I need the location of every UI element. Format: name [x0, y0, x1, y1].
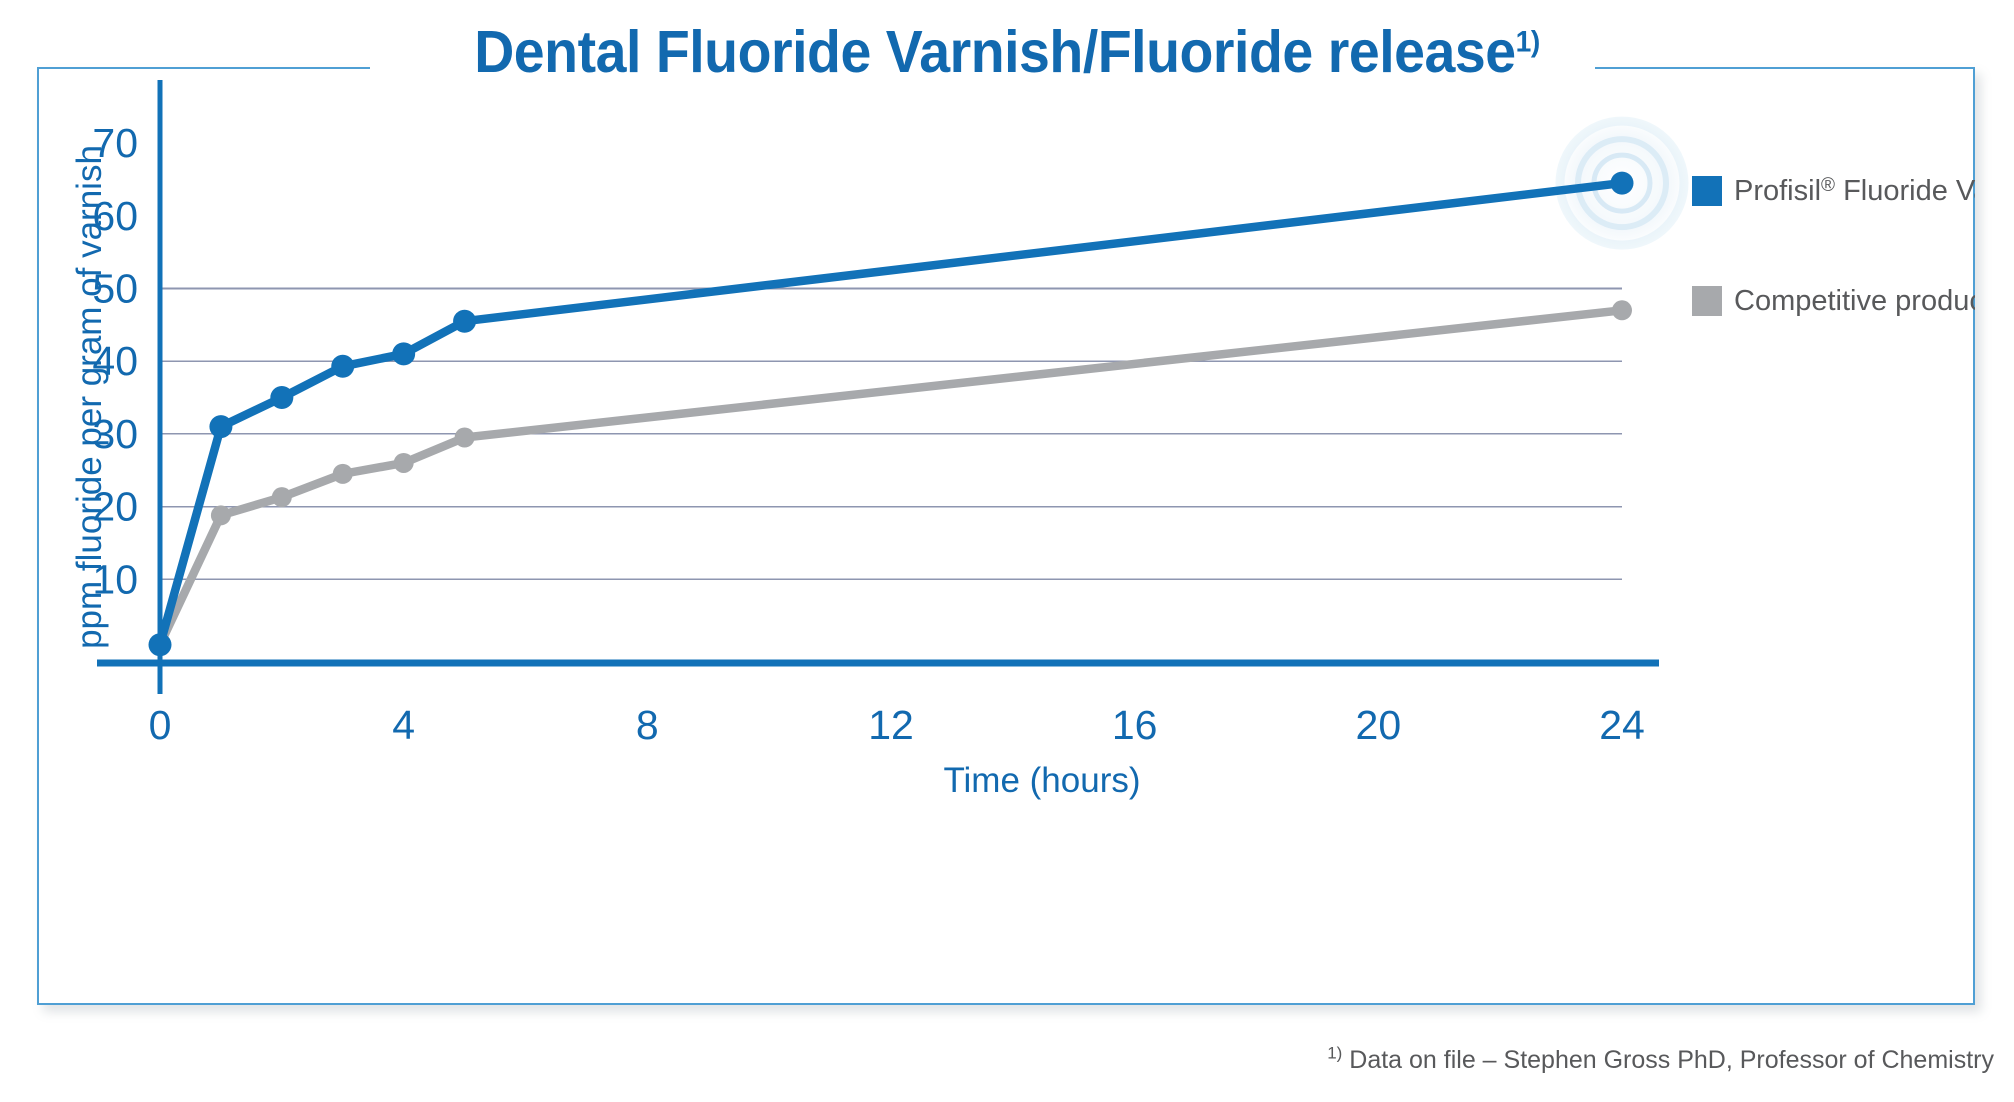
data-point	[270, 386, 293, 409]
data-point	[272, 487, 292, 507]
footnote-text: Data on file – Stephen Gross PhD, Profes…	[1342, 1046, 1994, 1074]
footnote: 1) Data on file – Stephen Gross PhD, Pro…	[1327, 1046, 1994, 1075]
data-point	[392, 342, 415, 365]
x-tick-label: 8	[636, 702, 659, 748]
data-point	[455, 428, 475, 448]
data-point	[1612, 300, 1632, 320]
page-title: Dental Fluoride Varnish/Fluoride release…	[60, 18, 1953, 86]
legend-swatch	[1692, 176, 1722, 206]
series-line	[160, 183, 1622, 645]
x-tick-label: 20	[1356, 702, 1402, 748]
x-axis-title: Time (hours)	[943, 761, 1140, 800]
x-tick-label: 4	[392, 702, 415, 748]
data-point	[1611, 172, 1634, 195]
page-title-superscript: 1)	[1516, 25, 1540, 58]
y-axis-title: ppm fluoride per gram of varnish	[70, 145, 109, 649]
data-point	[394, 453, 414, 473]
chart-legend: Profisil® Fluoride VarnishCompetitive pr…	[1692, 175, 1975, 317]
legend-label: Competitive product	[1734, 285, 1975, 317]
line-chart: 10203040506070 04812162024 Time (hours)p…	[37, 67, 1975, 1005]
legend-swatch	[1692, 286, 1722, 316]
x-tick-label: 12	[868, 702, 914, 748]
legend-item: Profisil® Fluoride Varnish	[1692, 175, 1975, 207]
footnote-marker: 1)	[1327, 1044, 1342, 1063]
data-point	[211, 505, 231, 525]
chart-area: 10203040506070 04812162024 Time (hours)p…	[37, 67, 1975, 1005]
x-tick-label: 16	[1112, 702, 1158, 748]
legend-item: Competitive product	[1692, 285, 1975, 317]
x-tick-label: 0	[149, 702, 172, 748]
x-tick-label: 24	[1599, 702, 1645, 748]
axis-titles: Time (hours)ppm fluoride per gram of var…	[70, 145, 1141, 800]
data-point	[453, 310, 476, 333]
x-tick-labels: 04812162024	[149, 702, 1645, 748]
data-point	[209, 415, 232, 438]
data-point	[331, 355, 354, 378]
legend-label: Profisil® Fluoride Varnish	[1734, 175, 1975, 207]
chart-page: Dental Fluoride Varnish/Fluoride release…	[0, 0, 2014, 1102]
page-title-text: Dental Fluoride Varnish/Fluoride release	[474, 19, 1515, 85]
data-point	[333, 464, 353, 484]
data-point	[149, 633, 172, 656]
data-series	[149, 172, 1634, 657]
axis-lines	[97, 80, 1659, 694]
